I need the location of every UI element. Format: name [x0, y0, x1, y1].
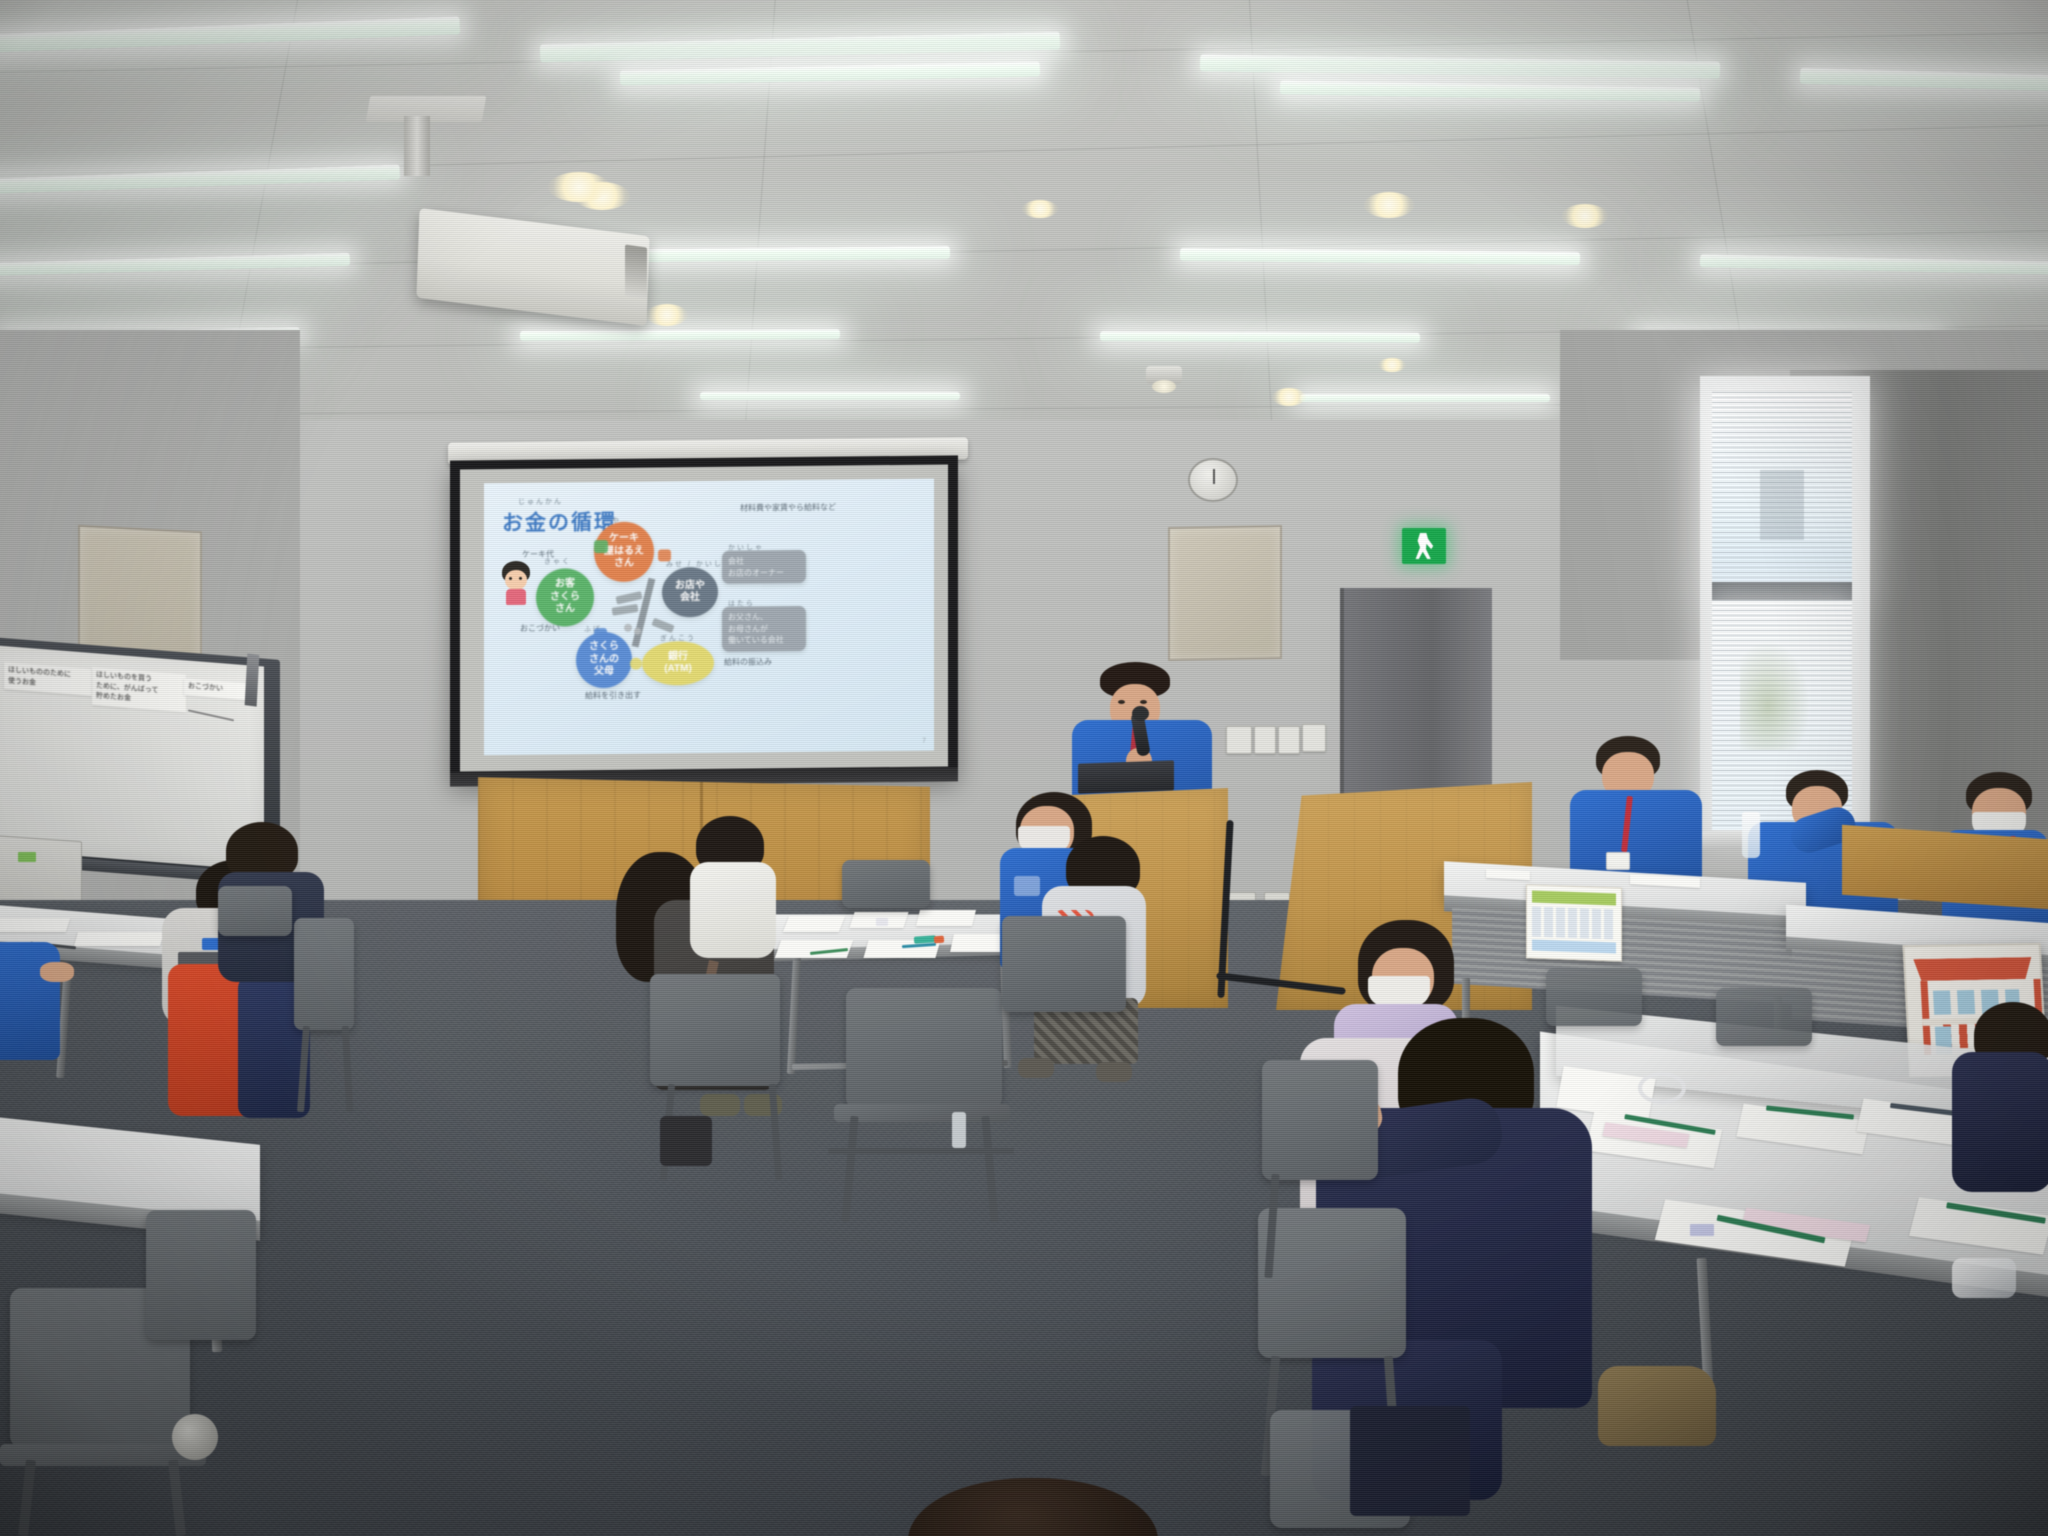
- calendar-header: [1532, 891, 1616, 906]
- child-shoe: [1018, 1058, 1054, 1078]
- poster-window: [1933, 990, 1951, 1014]
- chair[interactable]: [146, 1210, 256, 1340]
- chair-caster: [172, 1414, 218, 1460]
- calendar-sign: [1526, 884, 1622, 961]
- guardian-jacket-print: [1014, 876, 1040, 896]
- poster-roof: [1913, 957, 2032, 981]
- child-shoe: [700, 1094, 740, 1116]
- right-wood-counter: [1842, 825, 2048, 909]
- chair[interactable]: [650, 974, 780, 1086]
- child-shoe: [1096, 1062, 1132, 1082]
- attendee-top: [1952, 1052, 2048, 1192]
- microphone-head: [1132, 706, 1149, 721]
- photo-scene: じゅんかん お金の循環 材料費や家賃やら給料など きゃく お客 さくら さん や…: [0, 0, 2048, 1536]
- eraser[interactable]: [876, 918, 888, 926]
- speaker-eye: [1118, 700, 1125, 704]
- guardian-left-jacket-body: [0, 942, 60, 1060]
- marker-cap[interactable]: [934, 936, 944, 944]
- worksheet[interactable]: [0, 918, 70, 932]
- worksheet[interactable]: [916, 910, 976, 926]
- staff-1-badge: [1606, 852, 1630, 870]
- floor-bag[interactable]: [1350, 1406, 1470, 1516]
- plastic-wrapper[interactable]: [1952, 1258, 2016, 1298]
- chair[interactable]: [1258, 1208, 1406, 1358]
- floor-bag[interactable]: [660, 1116, 712, 1166]
- child-shoe: [1598, 1366, 1716, 1446]
- guardian-left-hand: [40, 962, 74, 982]
- chair[interactable]: [218, 886, 292, 936]
- chair[interactable]: [1002, 916, 1126, 1012]
- water-bottle[interactable]: [1742, 812, 1760, 858]
- chair[interactable]: [842, 860, 930, 908]
- child-top: [690, 862, 776, 958]
- chair[interactable]: [1546, 968, 1642, 1026]
- worksheet[interactable]: [783, 916, 845, 932]
- floor-bottle[interactable]: [952, 1112, 966, 1148]
- chair-crossbar: [828, 1148, 1014, 1154]
- tape-roll[interactable]: [1638, 1072, 1686, 1104]
- calendar-footer: [1532, 940, 1616, 954]
- eraser[interactable]: [1690, 1224, 1714, 1236]
- chair[interactable]: [846, 988, 1002, 1108]
- speaker-eye: [1140, 700, 1147, 704]
- guardian-face-mask: [1368, 976, 1430, 1006]
- chair[interactable]: [1716, 988, 1812, 1046]
- chair[interactable]: [1262, 1060, 1378, 1180]
- worksheet[interactable]: [74, 932, 164, 946]
- podium-laptop[interactable]: [1078, 760, 1174, 793]
- chair[interactable]: [294, 918, 354, 1030]
- poster-window: [1957, 990, 1975, 1014]
- calendar-grid: [1532, 907, 1616, 940]
